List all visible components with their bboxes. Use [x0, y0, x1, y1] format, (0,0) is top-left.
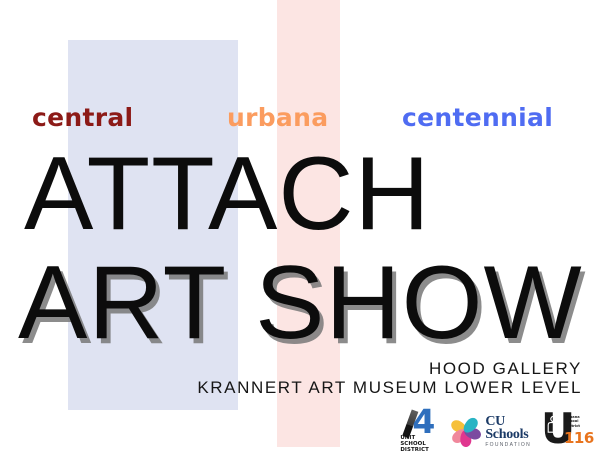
unit4-wordmark: UNIT SCHOOL DISTRICT [400, 435, 430, 454]
school-name-central: central [32, 101, 133, 135]
u116-wordmark: Urbana School District [565, 415, 587, 428]
venue-block: HOOD GALLERY KRANNERT ART MUSEUM LOWER L… [197, 359, 582, 398]
person-reading-icon [547, 416, 560, 433]
u116-line-district: District [565, 424, 587, 428]
cu-schools-foundation-logo: CU Schools FOUNDATION [447, 409, 531, 453]
u116-number: 116 [564, 431, 594, 446]
attach-art-show-poster: central urbana centennial ATTACH ART SHO… [0, 0, 600, 464]
venue-museum-address: KRANNERT ART MUSEUM LOWER LEVEL [197, 378, 582, 398]
cu-schools-word: Schools [485, 428, 531, 442]
unit4-numeral: 4 [412, 405, 435, 438]
school-names-row: central urbana centennial [0, 101, 600, 135]
sponsor-logo-strip: 4 UNIT SCHOOL DISTRICT CU Schools FOUNDA… [398, 406, 588, 456]
unit4-line-district: DISTRICT [400, 447, 430, 453]
pinwheel-icon [447, 413, 483, 449]
cu-wordmark: CU Schools FOUNDATION [485, 415, 531, 448]
poster-title-line-2: ART SHOW [18, 251, 583, 355]
urbana-school-district-116-logo: U Urbana School District 116 [540, 409, 588, 453]
unit-4-school-district-logo: 4 UNIT SCHOOL DISTRICT [398, 407, 438, 455]
cu-foundation-word: FOUNDATION [485, 443, 531, 448]
venue-gallery-name: HOOD GALLERY [197, 359, 582, 378]
school-name-centennial: centennial [402, 101, 553, 135]
school-name-urbana: urbana [227, 101, 328, 135]
poster-title-line-1: ATTACH [24, 142, 431, 246]
